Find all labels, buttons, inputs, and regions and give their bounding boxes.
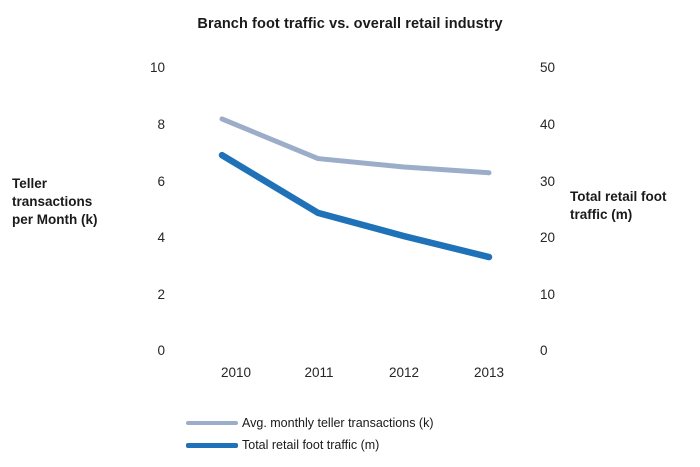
chart-container: Branch foot traffic vs. overall retail i… — [0, 0, 700, 467]
legend-label: Total retail foot traffic (m) — [242, 438, 379, 452]
chart-legend: Avg. monthly teller transactions (k) Tot… — [186, 414, 434, 454]
plot-area — [0, 0, 700, 467]
legend-color-swatch — [186, 443, 238, 448]
legend-color-swatch — [186, 421, 238, 425]
legend-item-retail-foot-traffic: Total retail foot traffic (m) — [186, 436, 434, 454]
legend-item-teller-transactions: Avg. monthly teller transactions (k) — [186, 414, 434, 432]
series-line-teller-transactions — [222, 119, 489, 173]
legend-label: Avg. monthly teller transactions (k) — [242, 416, 434, 430]
